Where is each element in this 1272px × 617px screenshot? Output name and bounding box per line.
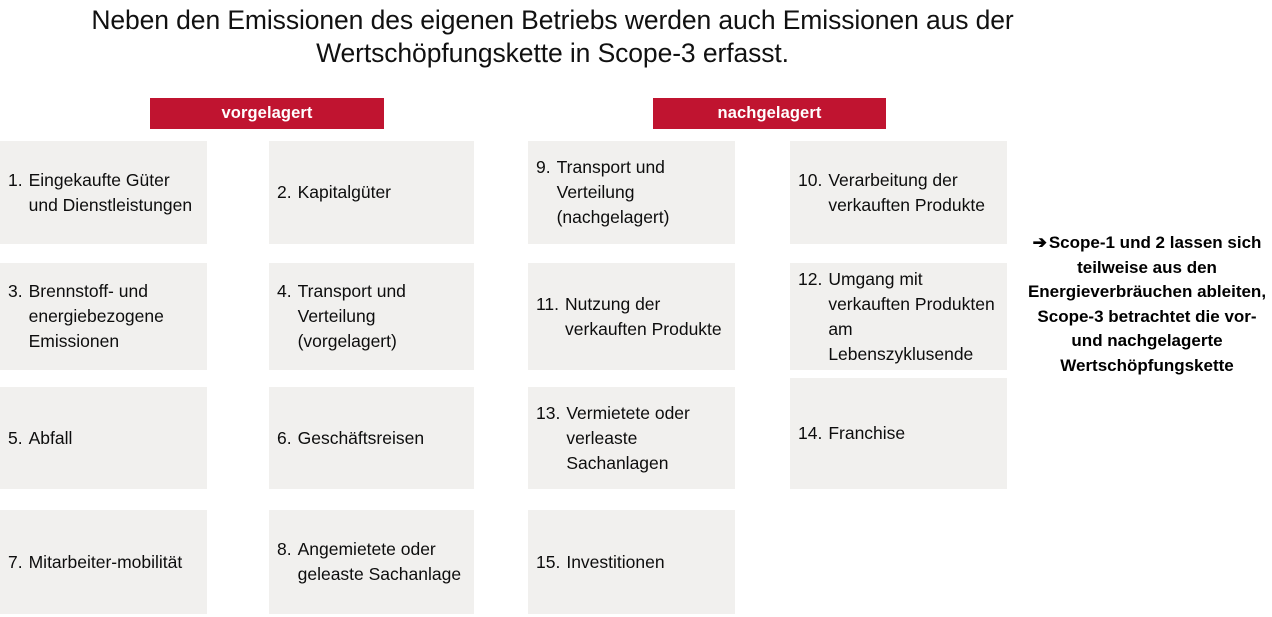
category-label: Brennstoff- und energiebezogene Emission…: [29, 279, 197, 354]
category-box: 13. Vermietete oder verleaste Sachanlage…: [528, 387, 735, 489]
category-box: 15. Investitionen: [528, 510, 735, 614]
category-box: 4. Transport und Verteilung (vorgelagert…: [269, 263, 474, 370]
category-label: Abfall: [29, 426, 73, 451]
category-number: 3.: [8, 279, 29, 304]
band-upstream: vorgelagert: [150, 98, 384, 129]
category-number: 5.: [8, 426, 29, 451]
category-box: 11. Nutzung der verkauften Produkte: [528, 263, 735, 370]
category-number: 12.: [798, 267, 828, 292]
page-title-line-2: Wertschöpfungskette in Scope-3 erfasst.: [60, 37, 1045, 70]
category-number: 11.: [536, 292, 565, 317]
category-number: 2.: [277, 180, 298, 205]
category-box: 6. Geschäftsreisen: [269, 387, 474, 489]
category-label: Nutzung der verkauften Produkte: [565, 292, 725, 342]
category-number: 15.: [536, 550, 566, 575]
category-label: Verarbeitung der verkauften Produkte: [828, 168, 997, 218]
category-number: 7.: [8, 550, 29, 575]
category-box: 9. Transport und Verteilung (nachgelager…: [528, 141, 735, 244]
category-label: Umgang mit verkauften Produkten am Leben…: [828, 267, 997, 367]
category-box: 8. Angemietete oder geleaste Sachanlage: [269, 510, 474, 614]
category-label: Mitarbeiter-mobilität: [29, 550, 183, 575]
category-label: Kapitalgüter: [298, 180, 391, 205]
category-box: 12. Umgang mit verkauften Produkten am L…: [790, 263, 1007, 370]
band-upstream-label: vorgelagert: [222, 104, 313, 123]
category-box: 2. Kapitalgüter: [269, 141, 474, 244]
summary-note-text: Scope-1 und 2 lassen sich teilweise aus …: [1028, 233, 1266, 375]
category-box: 7. Mitarbeiter-mobilität: [0, 510, 207, 614]
category-box: 5. Abfall: [0, 387, 207, 489]
category-number: 14.: [798, 421, 828, 446]
page-title: Neben den Emissionen des eigenen Betrieb…: [60, 4, 1045, 70]
scope3-value-chain-slide: Neben den Emissionen des eigenen Betrieb…: [0, 0, 1272, 617]
category-label: Angemietete oder geleaste Sachanlage: [298, 537, 464, 587]
category-label: Geschäftsreisen: [298, 426, 424, 451]
category-number: 1.: [8, 168, 29, 193]
category-number: 8.: [277, 537, 298, 562]
category-label: Investitionen: [566, 550, 664, 575]
category-label: Eingekaufte Güter und Dienstleistungen: [29, 168, 197, 218]
category-number: 13.: [536, 401, 566, 426]
category-label: Transport und Verteilung (vorgelagert): [298, 279, 464, 354]
category-number: 9.: [536, 155, 557, 180]
category-box: 14. Franchise: [790, 378, 1007, 489]
arrow-right-icon: ➔: [1033, 233, 1049, 252]
band-downstream: nachgelagert: [653, 98, 886, 129]
page-title-line-1: Neben den Emissionen des eigenen Betrieb…: [60, 4, 1045, 37]
category-box: 10. Verarbeitung der verkauften Produkte: [790, 141, 1007, 244]
category-number: 4.: [277, 279, 298, 304]
category-number: 10.: [798, 168, 828, 193]
band-downstream-label: nachgelagert: [718, 104, 822, 123]
summary-note: ➔Scope-1 und 2 lassen sich teilweise aus…: [1022, 231, 1272, 378]
category-box: 1. Eingekaufte Güter und Dienstleistunge…: [0, 141, 207, 244]
category-box: 3. Brennstoff- und energiebezogene Emiss…: [0, 263, 207, 370]
category-label: Franchise: [828, 421, 905, 446]
category-number: 6.: [277, 426, 298, 451]
category-label: Vermietete oder verleaste Sachanlagen: [566, 401, 725, 476]
category-label: Transport und Verteilung (nachgelagert): [557, 155, 725, 230]
